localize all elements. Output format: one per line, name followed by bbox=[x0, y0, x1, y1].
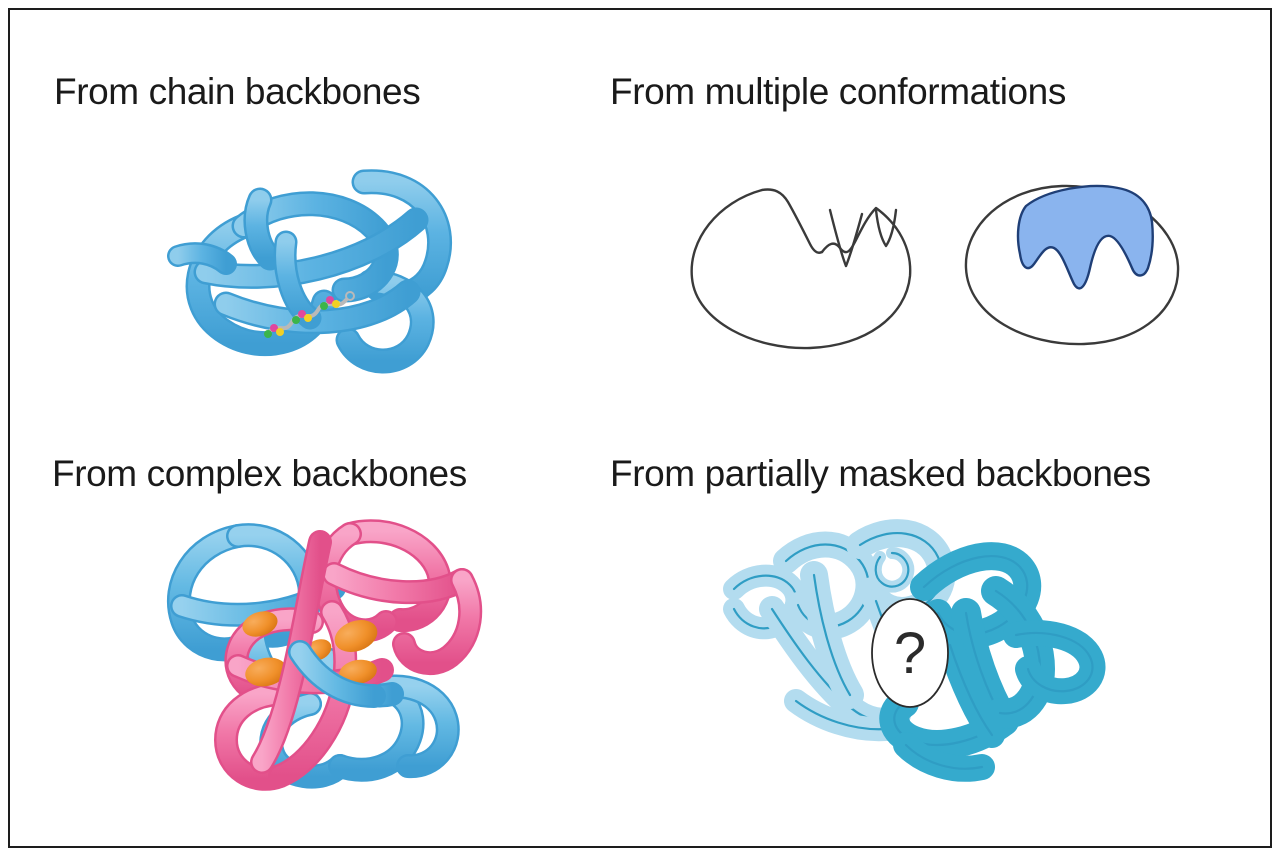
complex-backbone-svg bbox=[142, 510, 482, 800]
panel-chain-backbones: From chain backbones bbox=[14, 14, 610, 430]
panel-multiple-conformations: From multiple conformations bbox=[610, 14, 1270, 430]
panel-complex-backbones: From complex backbones bbox=[14, 430, 610, 846]
blob-conformations-illustration bbox=[670, 144, 1210, 374]
backbone-tubes bbox=[178, 182, 440, 361]
conformations-svg bbox=[670, 144, 1210, 374]
panel-partially-masked-backbones: From partially masked backbones bbox=[610, 430, 1270, 846]
panel-complex-backbones-label: From complex backbones bbox=[52, 454, 467, 495]
panel-partially-masked-backbones-label: From partially masked backbones bbox=[610, 454, 1151, 495]
masked-ribbon-illustration: ? bbox=[710, 505, 1110, 795]
blob-bound-conformation bbox=[966, 186, 1178, 344]
figure-canvas: From chain backbones bbox=[0, 0, 1280, 862]
two-chain-complex-illustration bbox=[142, 510, 482, 800]
chain-backbone-svg bbox=[164, 154, 464, 394]
masked-backbone-svg: ? bbox=[710, 505, 1110, 795]
panel-chain-backbones-label: From chain backbones bbox=[54, 72, 420, 113]
protein-backbone-tube-illustration bbox=[164, 154, 464, 394]
panel-multiple-conformations-label: From multiple conformations bbox=[610, 72, 1066, 113]
mask-marker: ? bbox=[872, 599, 948, 707]
mask-question-mark: ? bbox=[894, 621, 926, 686]
blob-open-conformation bbox=[692, 190, 911, 349]
